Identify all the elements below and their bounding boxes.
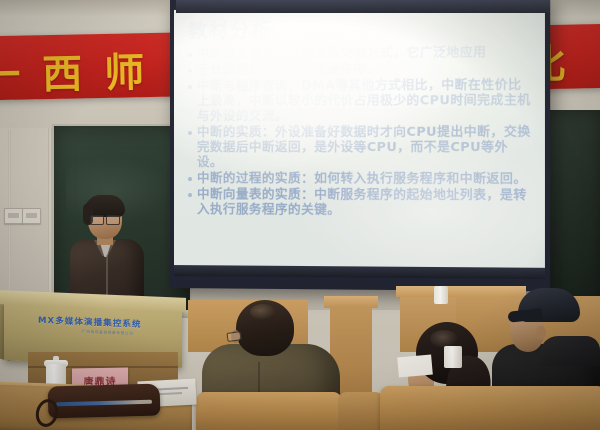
- slide-bullet-text: 中断与程序查询、DMA等其他方式相比，中断在性价比上最高，中断以较小的代价占用极…: [197, 77, 535, 123]
- slide-bullet: 中断的实质：外设准备好数据时才向CPU提出中断，交换完数据后中断返回，是外设等C…: [188, 124, 535, 170]
- projected-slide-surface: 教材分析 中断是主机与外设的主要交流方式，它广泛地应用 于计算机的各部分外设硬件…: [174, 7, 545, 279]
- bench-middle: [196, 392, 342, 430]
- slide-bullet: 中断是主机与外设的主要交流方式，它广泛地应用: [188, 44, 535, 61]
- projection-screen: 教材分析 中断是主机与外设的主要交流方式，它广泛地应用 于计算机的各部分外设硬件…: [170, 0, 550, 291]
- slide-title: 教材分析: [188, 13, 535, 43]
- bullet-dot-icon: [188, 69, 192, 73]
- banner-text-left: 一西师: [0, 40, 167, 100]
- audience-older-ear: [536, 326, 546, 339]
- bullet-dot-icon: [188, 131, 192, 135]
- bench-right: [380, 386, 600, 430]
- screen-top-rail: [176, 0, 550, 13]
- slide-bullet-text: 中断的实质：外设准备好数据时才向CPU提出中断，交换完数据后中断返回，是外设等C…: [197, 124, 535, 170]
- bullet-dot-icon: [188, 85, 192, 89]
- screen-bottom-rail: [174, 265, 545, 279]
- console-sub-label: 广州美视晶莹银幕有限公司: [82, 330, 134, 337]
- bench-divider: [338, 392, 384, 430]
- paper-cup: [434, 286, 448, 304]
- slide-bullet-text: 于计算机的各部分外设硬件中。: [197, 61, 380, 77]
- audience-older-shoulder: [540, 336, 600, 366]
- light-switch-icon: [22, 208, 41, 224]
- slide-bullet-text: 中断的过程的实质：如何转入执行服务程序和中断返回。: [197, 170, 527, 186]
- slide-bullet: 于计算机的各部分外设硬件中。: [188, 60, 535, 77]
- slide-bullet: 中断向量表的实质：中断服务程序的起始地址列表，是转入执行服务程序的关键。: [188, 186, 535, 218]
- paper-cup-secondary: [444, 346, 462, 368]
- hair-highlight: [250, 304, 276, 320]
- slide-bullet: 中断与程序查询、DMA等其他方式相比，中断在性价比上最高，中断以较小的代价占用极…: [188, 77, 535, 123]
- classroom-photo: 一西师 赛比 教材分析 中断是主机与外设的主要交流方式，它广泛地应用 于计算机的…: [0, 0, 600, 430]
- bullet-dot-icon: [188, 53, 192, 57]
- slide-bullet: 中断的过程的实质：如何转入执行服务程序和中断返回。: [188, 170, 535, 186]
- slide-content: 教材分析 中断是主机与外设的主要交流方式，它广泛地应用 于计算机的各部分外设硬件…: [174, 7, 545, 279]
- handout-paper: [397, 355, 433, 378]
- slide-bullet-text: 中断是主机与外设的主要交流方式，它广泛地应用: [197, 44, 486, 61]
- bullet-dot-icon: [188, 193, 192, 197]
- power-outlet-icon: [4, 208, 23, 224]
- eyeglasses-icon: [90, 215, 120, 223]
- console-brand-label: MX多媒体演播集控系统: [38, 314, 142, 330]
- bullet-dot-icon: [188, 177, 192, 181]
- slide-bullet-text: 中断向量表的实质：中断服务程序的起始地址列表，是转入执行服务程序的关键。: [197, 186, 535, 218]
